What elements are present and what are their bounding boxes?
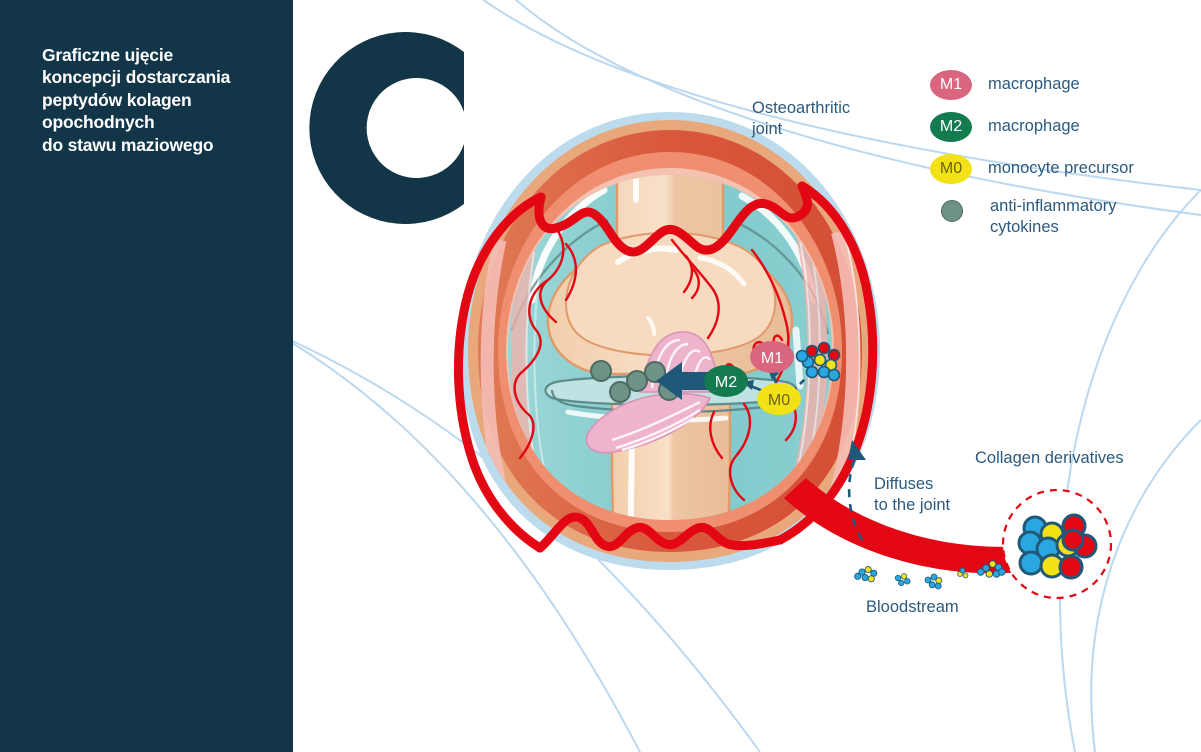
cytokine-dot — [627, 371, 647, 391]
title-line-3: peptydów kolagen — [42, 89, 278, 111]
legend: M1 macrophage M2 macrophage M0 monocyte … — [930, 70, 1134, 250]
marker-m1: M1 — [750, 341, 794, 373]
infographic-canvas: Graficzne ujęcie koncepcji dostarczania … — [0, 0, 1201, 752]
legend-badge-m2: M2 — [930, 112, 972, 142]
legend-label-cytokines: anti-inflammatory cytokines — [990, 196, 1117, 238]
title-line-1: Graficzne ujęcie — [42, 44, 278, 66]
oa-line-2: joint — [752, 119, 850, 140]
legend-label-m0: monocyte precursor — [988, 158, 1134, 179]
label-bloodstream: Bloodstream — [866, 597, 959, 618]
legend-item-m1: M1 macrophage — [930, 70, 1134, 100]
legend-label-cytokines-line-2: cytokines — [990, 217, 1117, 238]
legend-item-cytokines: anti-inflammatory cytokines — [930, 196, 1134, 238]
label-diffuses-to-joint: Diffuses to the joint — [874, 474, 950, 517]
legend-badge-m0: M0 — [930, 154, 972, 184]
diffuses-line-1: Diffuses — [874, 474, 950, 495]
legend-label-m2-line-1: macrophage — [988, 116, 1080, 137]
collagen-derivatives-magnifier — [1003, 490, 1111, 598]
title-line-5: do stawu maziowego — [42, 134, 278, 156]
legend-item-m0: M0 monocyte precursor — [930, 154, 1134, 184]
page-title: Graficzne ujęcie koncepcji dostarczania … — [42, 44, 278, 156]
marker-m0: M0 — [757, 383, 801, 415]
legend-label-m2: macrophage — [988, 116, 1080, 137]
title-line-2: koncepcji dostarczania — [42, 66, 278, 88]
title-line-4: opochodnych — [42, 111, 278, 133]
cytokine-dot — [591, 361, 611, 381]
marker-m2: M2 — [704, 365, 748, 397]
diffuses-line-2: to the joint — [874, 495, 950, 516]
legend-cytokine-dot-icon — [941, 200, 963, 222]
svg-text:M0: M0 — [768, 392, 790, 409]
legend-item-m2: M2 macrophage — [930, 112, 1134, 142]
svg-text:M1: M1 — [761, 350, 783, 367]
legend-label-m1-line-1: macrophage — [988, 74, 1080, 95]
legend-label-m1: macrophage — [988, 74, 1080, 95]
legend-label-cytokines-line-1: anti-inflammatory — [990, 196, 1117, 217]
label-collagen-derivatives: Collagen derivatives — [975, 448, 1124, 469]
brand-monogram-c — [289, 18, 464, 238]
oa-line-1: Osteoarthritic — [752, 98, 850, 119]
legend-badge-m1: M1 — [930, 70, 972, 100]
svg-text:M2: M2 — [715, 374, 737, 391]
legend-label-m0-line-1: monocyte precursor — [988, 158, 1134, 179]
label-osteoarthritic-joint: Osteoarthritic joint — [752, 98, 850, 141]
